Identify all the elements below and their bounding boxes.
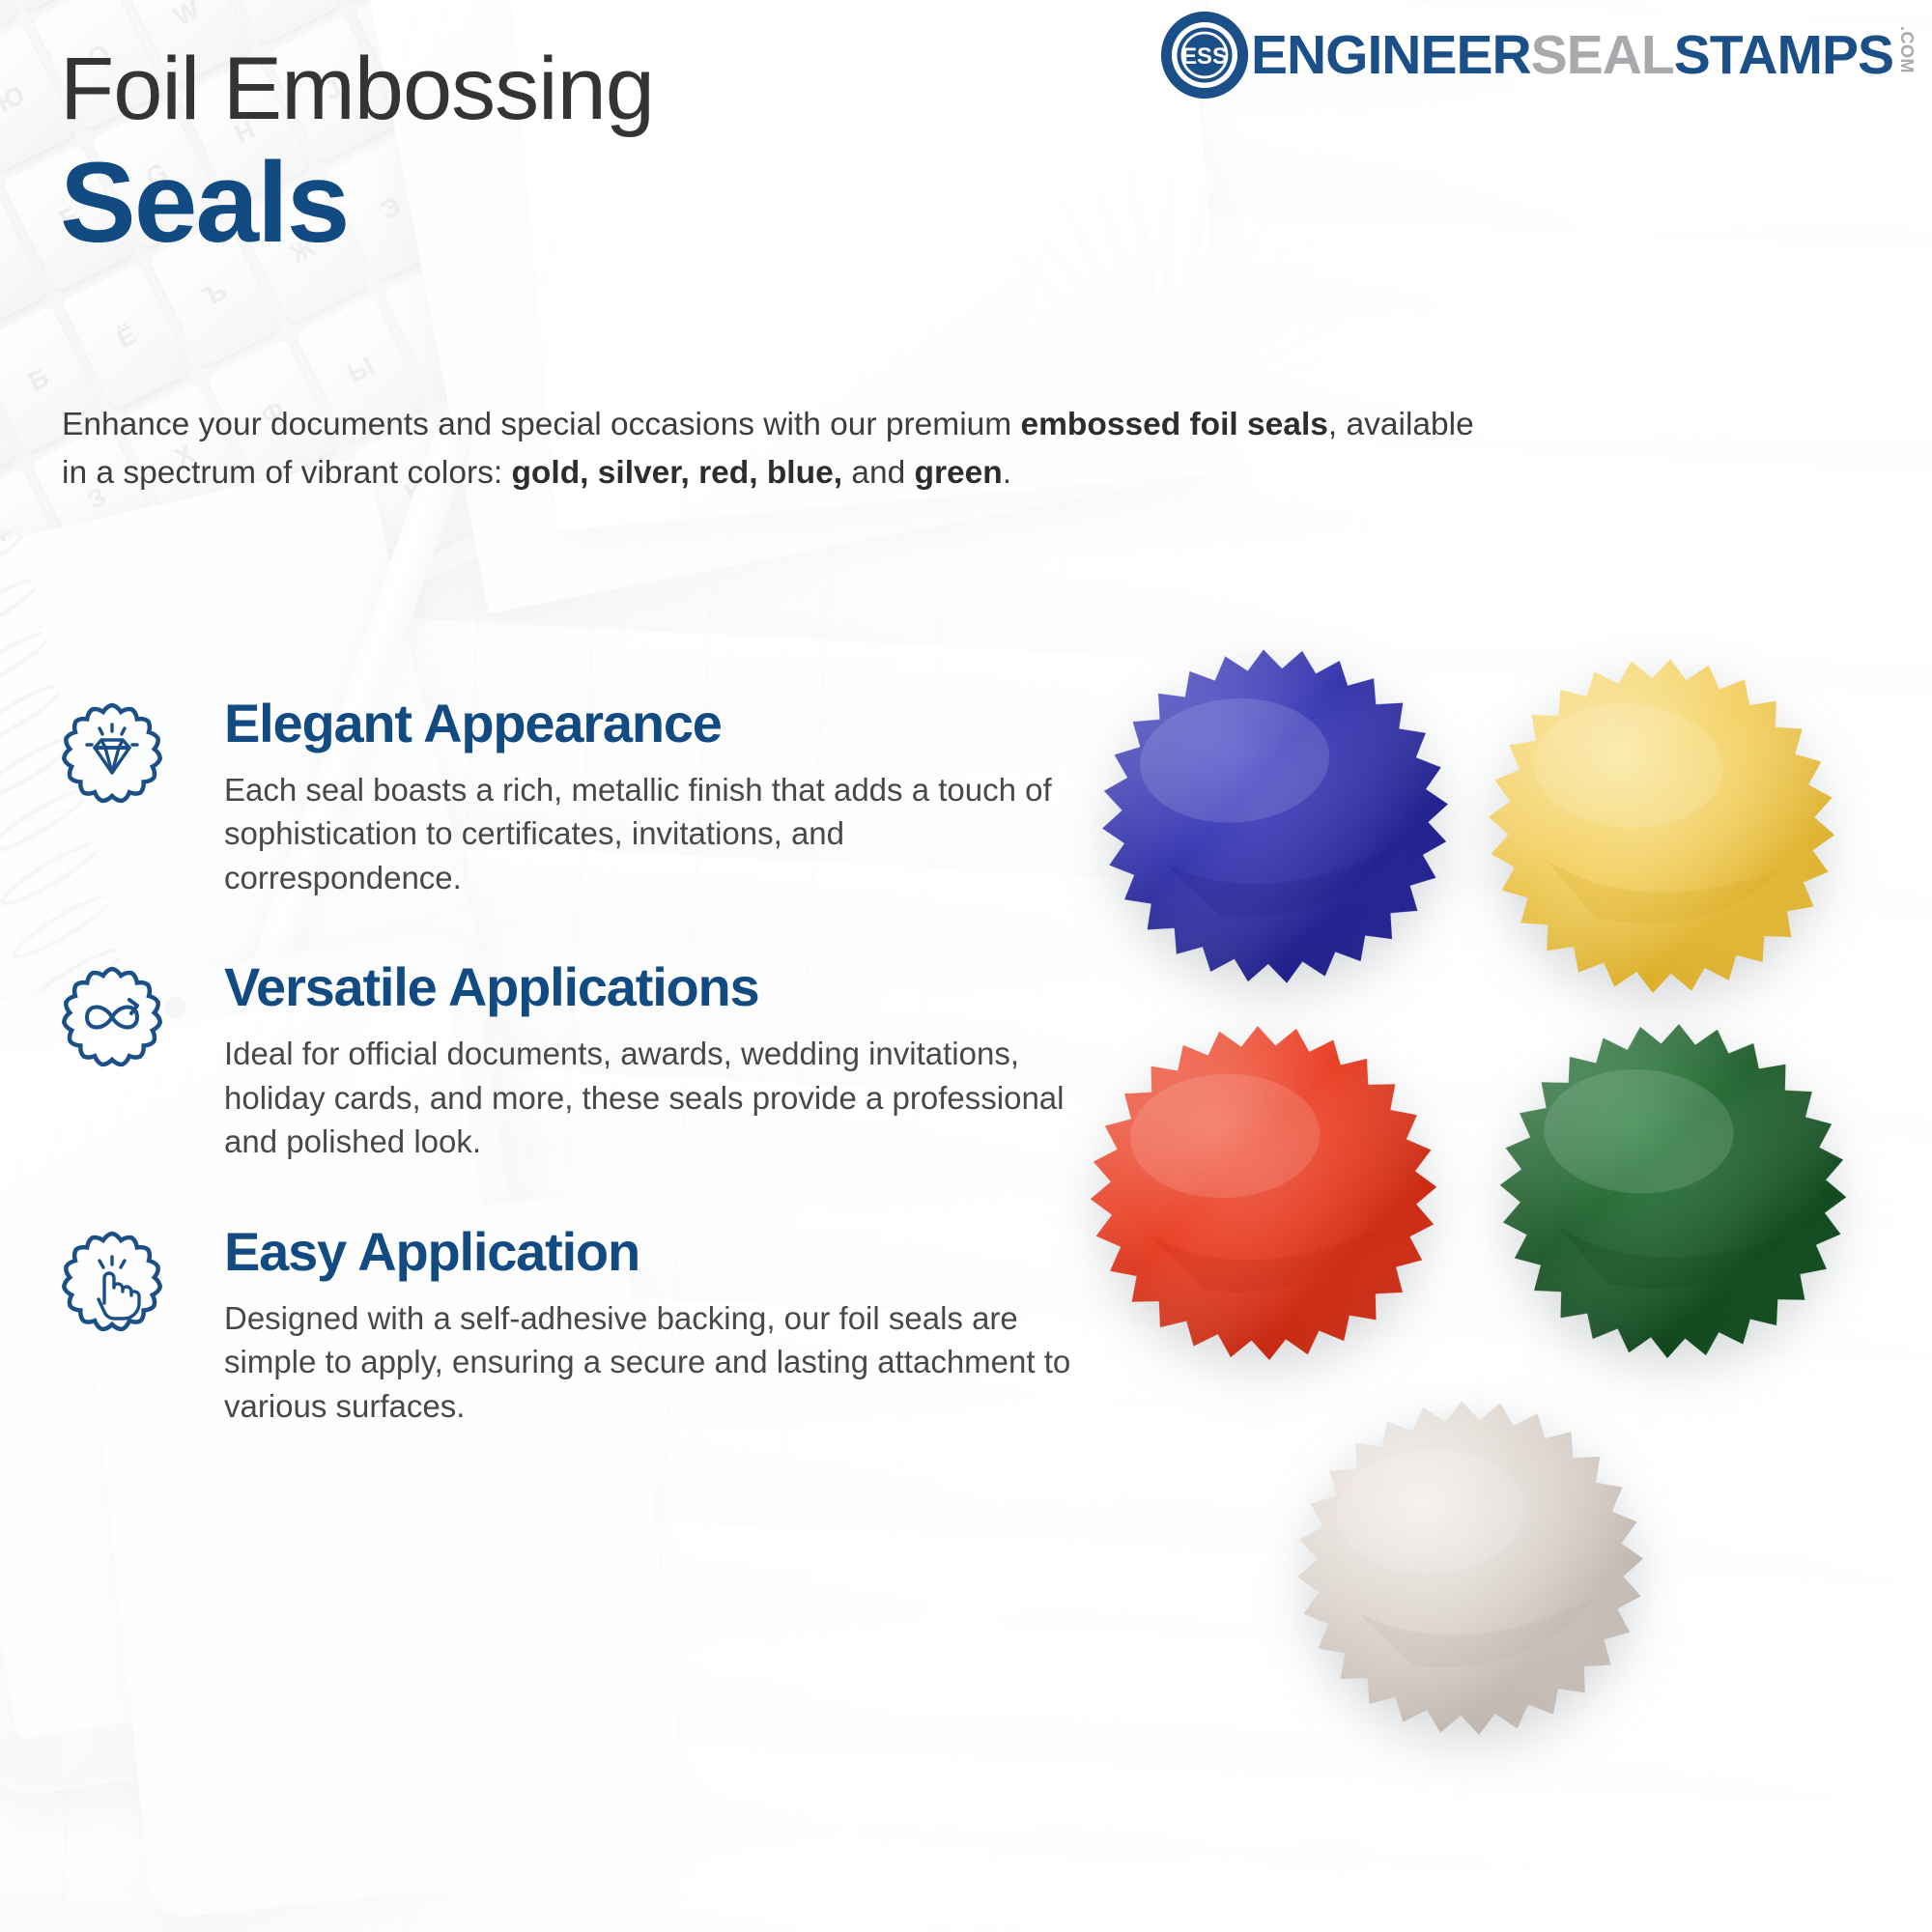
intro-bold-green: green — [915, 455, 1003, 491]
title-line-seals: Seals — [60, 146, 654, 260]
intro-bold-embossed-foil-seals: embossed foil seals — [1021, 407, 1328, 442]
pointing-hand-badge-icon — [58, 1228, 166, 1336]
logo-word-engineer: ENGINEER — [1251, 23, 1531, 87]
intro-text-4: . — [1003, 455, 1011, 491]
feature-body: Elegant Appearance Each seal boasts a ri… — [224, 696, 1082, 899]
feature-list: Elegant Appearance Each seal boasts a ri… — [58, 696, 1082, 1488]
title-line-foil-embossing: Foil Embossing — [60, 43, 654, 136]
foil-seal-gallery — [1043, 638, 1932, 1777]
feature-item-elegant-appearance: Elegant Appearance Each seal boasts a ri… — [58, 696, 1082, 899]
seal-shape-green — [1484, 1006, 1863, 1376]
logo-word-seal: SEAL — [1531, 23, 1674, 87]
feature-item-easy-application: Easy Application Designed with a self-ad… — [58, 1224, 1082, 1428]
seal-shape-gold — [1469, 638, 1855, 1013]
feature-description: Each seal boasts a rich, metallic finish… — [224, 768, 1082, 900]
feature-title: Versatile Applications — [224, 959, 1082, 1016]
intro-bold-color-list: gold, silver, red, blue, — [511, 455, 842, 491]
seal-swatch-blue — [1080, 625, 1471, 1008]
feature-body: Easy Application Designed with a self-ad… — [224, 1224, 1082, 1428]
feature-title: Elegant Appearance — [224, 696, 1082, 753]
feature-body: Versatile Applications Ideal for officia… — [224, 959, 1082, 1163]
brand-logo[interactable]: ESS ENGINEERSEALSTAMPS .COM — [1160, 14, 1917, 97]
seal-shape-red — [1074, 1008, 1454, 1378]
seal-swatch-red — [1074, 1008, 1454, 1378]
seal-swatch-green — [1484, 1006, 1863, 1376]
seal-shape-blue — [1080, 625, 1471, 1008]
seal-swatch-gold — [1469, 638, 1855, 1013]
ess-monogram-text: ESS — [1181, 43, 1228, 70]
logo-word-stamps: STAMPS — [1674, 23, 1893, 87]
seal-shape-silver — [1278, 1379, 1663, 1755]
intro-paragraph: Enhance your documents and special occas… — [62, 401, 1482, 498]
intro-text-3: and — [842, 455, 915, 491]
diamond-badge-icon — [58, 699, 166, 808]
infographic-page: ЙЦУКЕНГШЩЗХЪФЫВАПРОЛДЖЭЯЧСМИТЬБЮQWERTYUI… — [0, 0, 1932, 1932]
content-layer: ESS ENGINEERSEALSTAMPS .COM Foil Embossi… — [0, 0, 1932, 1932]
logo-tld-text: .COM — [1896, 26, 1917, 73]
ess-gear-seal-icon: ESS — [1160, 11, 1249, 99]
page-title: Foil Embossing Seals — [60, 43, 654, 260]
seal-swatch-silver — [1278, 1379, 1663, 1755]
feature-description: Designed with a self-adhesive backing, o… — [224, 1296, 1082, 1429]
infinity-loop-badge-icon — [58, 963, 166, 1071]
brand-wordmark: ENGINEERSEALSTAMPS — [1251, 23, 1893, 87]
feature-description: Ideal for official documents, awards, we… — [224, 1032, 1082, 1164]
intro-text-1: Enhance your documents and special occas… — [62, 407, 1021, 442]
feature-item-versatile-applications: Versatile Applications Ideal for officia… — [58, 959, 1082, 1163]
feature-title: Easy Application — [224, 1224, 1082, 1281]
